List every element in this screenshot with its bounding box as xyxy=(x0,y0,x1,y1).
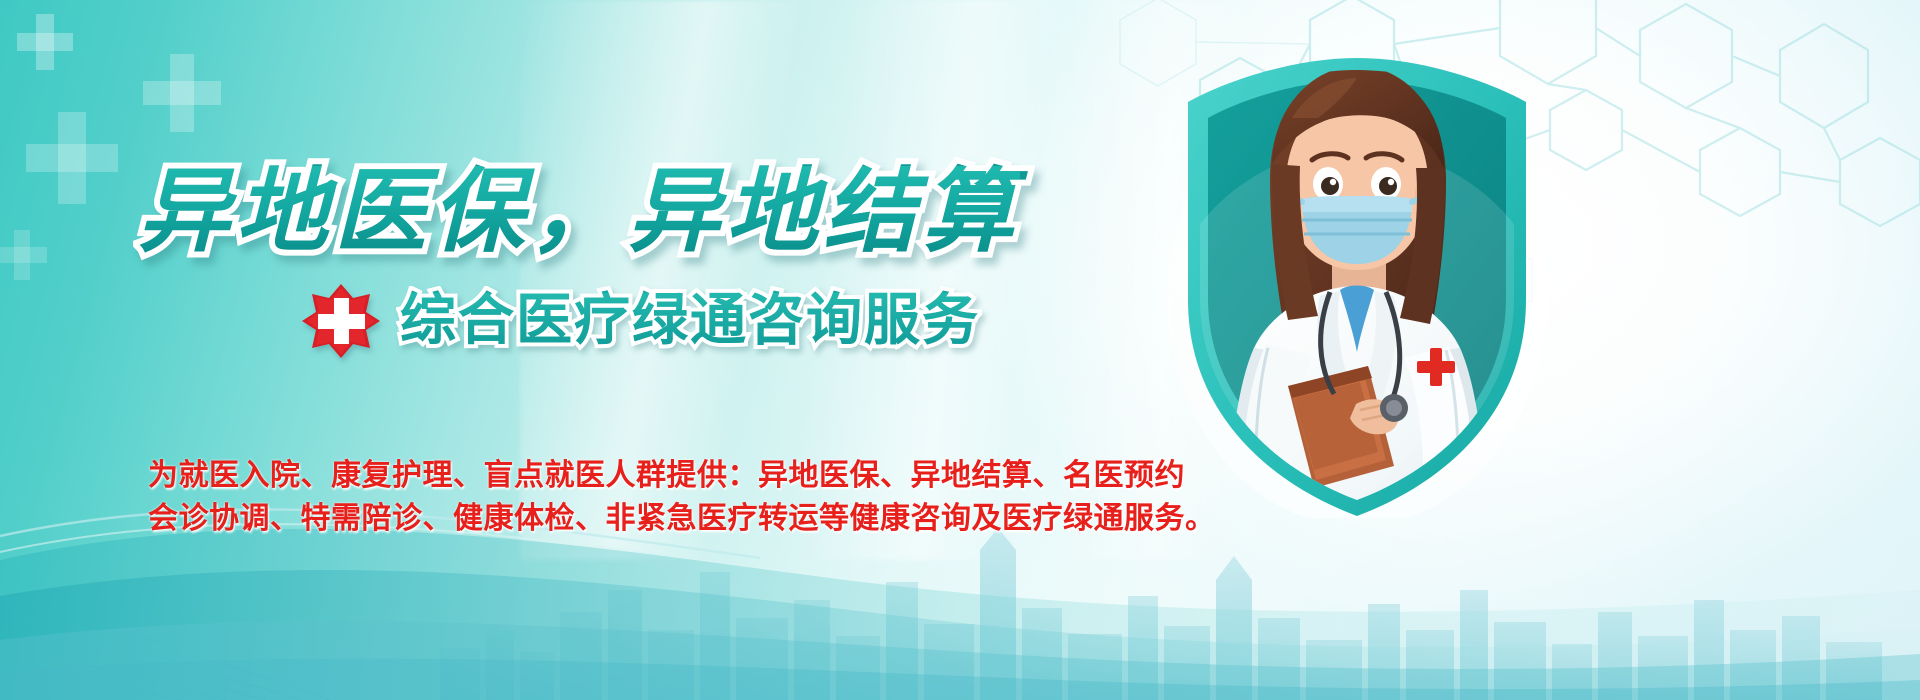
description-text: 为就医入院、康复护理、盲点就医人群提供：异地医保、异地结算、名医预约 会诊协调、… xyxy=(148,455,1068,540)
banner-content: 异地医保，异地结算 异地医保，异地结算 综合医疗绿通咨询服务 综合医疗绿通咨询服… xyxy=(0,0,1160,700)
subtitle-row: 综合医疗绿通咨询服务 综合医疗绿通咨询服务 xyxy=(300,282,980,360)
main-title-fill: 异地医保，异地结算 xyxy=(138,166,1020,258)
subtitle-fill: 综合医疗绿通咨询服务 xyxy=(400,293,980,349)
red-cross-badge xyxy=(300,282,382,360)
doctor-shield-graphic xyxy=(1142,48,1572,518)
description-line-2: 会诊协调、特需陪诊、健康体检、非紧急医疗转运等健康咨询及医疗绿通服务。 xyxy=(148,498,1068,541)
medical-banner: 异地医保，异地结算 异地医保，异地结算 综合医疗绿通咨询服务 综合医疗绿通咨询服… xyxy=(0,0,1920,700)
subtitle: 综合医疗绿通咨询服务 综合医疗绿通咨询服务 xyxy=(400,293,980,349)
description-line-1: 为就医入院、康复护理、盲点就医人群提供：异地医保、异地结算、名医预约 xyxy=(148,455,1068,498)
page-title: 异地医保，异地结算 异地医保，异地结算 xyxy=(138,166,1020,258)
